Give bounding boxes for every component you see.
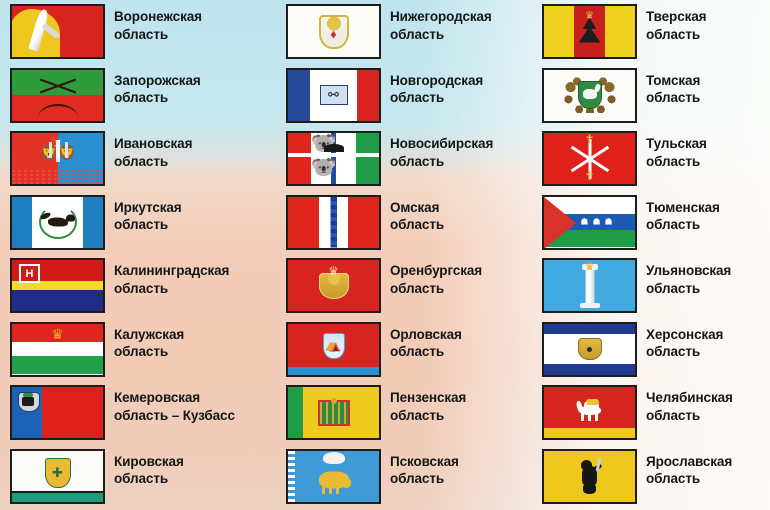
flag-zaporozhye — [10, 68, 105, 123]
flag-entry[interactable]: ♛ Тверская область — [540, 0, 770, 64]
flag-tula: ✝ ✝ — [542, 131, 637, 186]
flag-entry[interactable]: Воронежская область — [4, 0, 260, 64]
flag-orenburg: ♛ — [286, 258, 381, 313]
flag-entry[interactable]: ✝ ✝ Тульская область — [540, 127, 770, 191]
flag-entry[interactable]: ♛ Ульяновская область — [540, 254, 770, 318]
flag-pskov — [286, 449, 381, 504]
flag-kherson: ⚫ — [542, 322, 637, 377]
flag-label: Тульская область — [646, 135, 770, 170]
flag-label: Кировская область — [114, 453, 264, 488]
flag-ulyanovsk: ♛ — [542, 258, 637, 313]
flag-orel: ⛺ — [286, 322, 381, 377]
flag-entry[interactable]: Запорожская область — [4, 64, 260, 128]
flag-kirov: ✚ — [10, 449, 105, 504]
flag-label: Кемеровская область – Кузбасс — [114, 389, 264, 424]
flag-label: Ульяновская область — [646, 262, 770, 297]
flag-nizhny-novgorod: ♦ — [286, 4, 381, 59]
flag-label: Орловская область — [390, 326, 540, 361]
flag-entry[interactable]: ⚯ Новгородская область — [284, 64, 540, 128]
flag-label: Калужская область — [114, 326, 264, 361]
flag-entry[interactable]: Томская область — [540, 64, 770, 128]
flag-entry[interactable]: Кемеровская область – Кузбасс — [4, 381, 260, 445]
flag-entry[interactable]: ☗☗☗ Тюменская область — [540, 191, 770, 255]
flag-kaliningrad: H — [10, 258, 105, 313]
flag-entry[interactable]: ♛ Калужская область — [4, 318, 260, 382]
flag-label: Тверская область — [646, 8, 770, 43]
flag-chelyabinsk — [542, 385, 637, 440]
flags-chart: Воронежская область Запорожская область — [0, 0, 770, 510]
flag-column-1: ♦ Нижегородская область ⚯ Новгородская о… — [284, 0, 540, 510]
flag-label: Нижегородская область — [390, 8, 540, 43]
flag-entry[interactable]: Иркутская область — [4, 191, 260, 255]
flag-label: Челябинская область — [646, 389, 770, 424]
flag-entry[interactable]: Челябинская область — [540, 381, 770, 445]
flag-column-2: ♛ Тверская область Томская область — [540, 0, 770, 510]
flag-irkutsk — [10, 195, 105, 250]
flag-label: Иркутская область — [114, 199, 264, 234]
flag-label: Калининградская область — [114, 262, 264, 297]
flag-kemerovo — [10, 385, 105, 440]
flag-label: Воронежская область — [114, 8, 264, 43]
flag-entry[interactable]: ♦ Нижегородская область — [284, 0, 540, 64]
flag-entry[interactable]: ✚ Кировская область — [4, 445, 260, 509]
flag-entry[interactable]: Ярославская область — [540, 445, 770, 509]
flag-label: Запорожская область — [114, 72, 264, 107]
flag-label: Омская область — [390, 199, 540, 234]
flag-voronezh — [10, 4, 105, 59]
flag-entry[interactable]: ⚫ Херсонская область — [540, 318, 770, 382]
flag-tomsk — [542, 68, 637, 123]
flag-label: Ярославская область — [646, 453, 770, 488]
flag-entry[interactable]: H Калининградская область — [4, 254, 260, 318]
flag-penza — [286, 385, 381, 440]
flag-omsk — [286, 195, 381, 250]
flag-entry[interactable]: ⚔ 🦁🦁 Ивановская область — [4, 127, 260, 191]
flag-tyumen: ☗☗☗ — [542, 195, 637, 250]
flag-label: Новгородская область — [390, 72, 540, 107]
flag-label: Пензенская область — [390, 389, 540, 424]
flag-kaluga: ♛ — [10, 322, 105, 377]
flag-entry[interactable]: Пензенская область — [284, 381, 540, 445]
flag-novgorod: ⚯ — [286, 68, 381, 123]
flag-label: Новосибирская область — [390, 135, 540, 170]
flag-label: Ивановская область — [114, 135, 264, 170]
flag-label: Псковская область — [390, 453, 540, 488]
flag-entry[interactable]: ⛺ Орловская область — [284, 318, 540, 382]
flag-entry[interactable]: 🐨🐨 Новосибирская область — [284, 127, 540, 191]
flag-novosibirsk: 🐨🐨 — [286, 131, 381, 186]
flag-entry[interactable]: Омская область — [284, 191, 540, 255]
flag-entry[interactable]: Псковская область — [284, 445, 540, 509]
flag-label: Оренбургская область — [390, 262, 540, 297]
flag-tver: ♛ — [542, 4, 637, 59]
flag-label: Тюменская область — [646, 199, 770, 234]
flag-yaroslavl — [542, 449, 637, 504]
flag-ivanovo: ⚔ 🦁🦁 — [10, 131, 105, 186]
flag-label: Томская область — [646, 72, 770, 107]
flag-entry[interactable]: ♛ Оренбургская область — [284, 254, 540, 318]
flag-label: Херсонская область — [646, 326, 770, 361]
flag-column-0: Воронежская область Запорожская область — [4, 0, 260, 510]
